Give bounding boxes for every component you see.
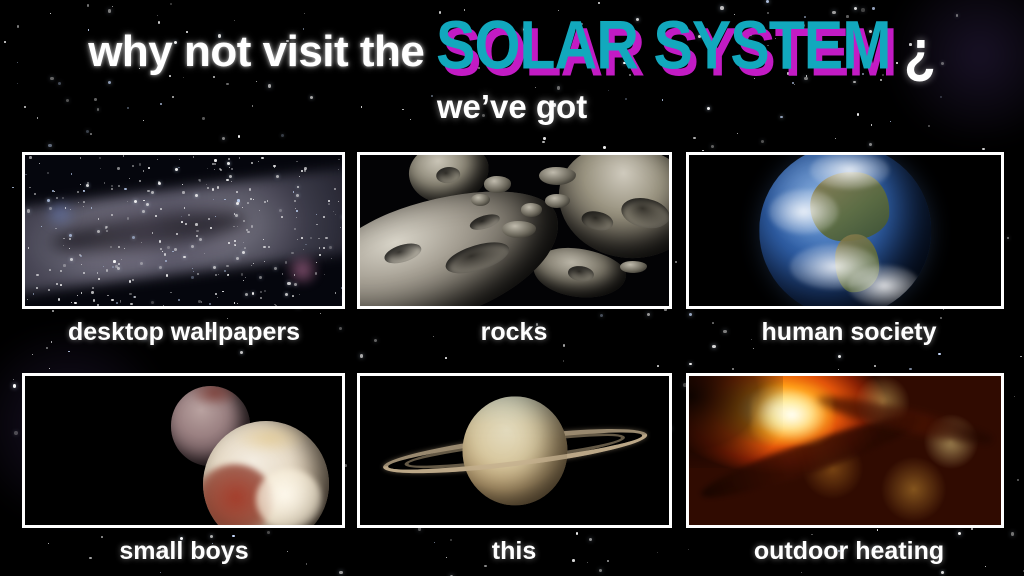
inverted-question-mark: ¿ [904,18,936,87]
flare-hotspot [751,385,832,445]
caption-milky-way: desktop wallpapers [68,318,300,347]
caption-pluto: small boys [119,537,248,566]
panel-saturn [357,373,672,528]
panel-earth [686,152,1004,309]
planet-earth [759,155,931,306]
panel-milky-way [22,152,345,309]
crater [580,208,615,233]
panel-frame [357,152,672,309]
image-solar-flare [689,376,1001,525]
headline-emphasis-front-layer: SOLAR SYSTEM [436,5,891,84]
image-saturn [360,376,669,525]
crater [441,236,512,280]
crater [468,211,501,232]
asteroid-pebble [484,176,512,193]
panel-frame [22,373,345,528]
panel-frame [22,152,345,309]
panel-pluto [22,373,345,528]
crater [619,194,669,232]
crater [567,265,595,283]
cloud [769,189,838,234]
caption-saturn: this [492,537,536,566]
cloud [848,265,920,306]
crater [436,166,462,184]
headline-prefix: why not visit the [88,27,424,77]
panel-stars [25,155,342,306]
image-earth [689,155,1001,306]
charon-polar-cap [190,386,239,407]
panel-frame [357,373,672,528]
image-pluto-charon [25,376,342,525]
subline: we’ve got [0,88,1024,126]
crater [382,240,423,267]
panel-solar-flare [686,373,1004,528]
image-milky-way [25,155,342,306]
image-asteroids [360,155,669,306]
caption-asteroids: rocks [481,318,548,347]
headline-emphasis: SOLAR SYSTEM SOLAR SYSTEM [442,19,888,86]
caption-solar-flare: outdoor heating [754,537,944,566]
asteroid-pebble [620,261,648,273]
caption-earth: human society [761,318,936,347]
panel-asteroids [357,152,672,309]
panel-frame [686,152,1004,309]
headline: why not visit the SOLAR SYSTEM SOLAR SYS… [0,20,1024,84]
panel-frame [686,373,1004,528]
pluto-northern-terrain [233,423,307,453]
pluto-tombaugh-regio [256,469,322,525]
meme-canvas: why not visit the SOLAR SYSTEM SOLAR SYS… [0,0,1024,576]
